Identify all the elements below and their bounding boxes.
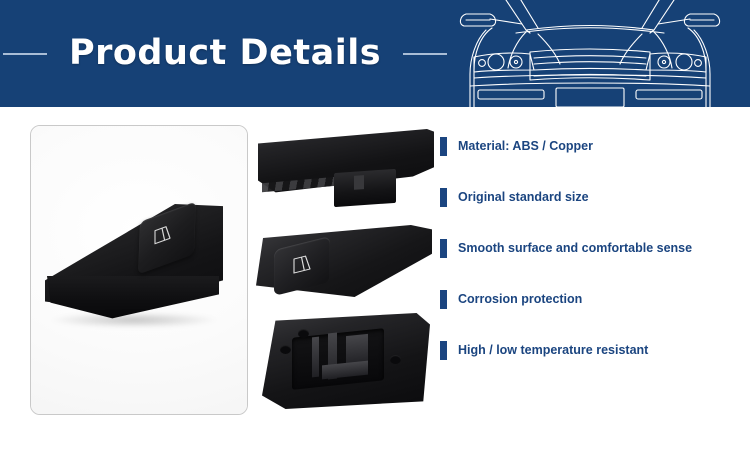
- feature-item: Material: ABS / Copper: [440, 135, 736, 157]
- feature-list: Material: ABS / Copper Original standard…: [440, 135, 736, 361]
- bullet-marker-icon: [440, 341, 447, 360]
- page-header: Product Details: [0, 0, 750, 107]
- thumb3-screw-hole: [280, 345, 291, 354]
- main-product-image-frame[interactable]: [30, 125, 248, 415]
- thumbnail-column: [256, 121, 436, 421]
- feature-label: Smooth surface and comfortable sense: [458, 242, 692, 255]
- bullet-marker-icon: [440, 188, 447, 207]
- main-product-image: [31, 126, 247, 414]
- switch-drop-shadow: [49, 312, 219, 328]
- bullet-marker-icon: [440, 239, 447, 258]
- feature-item: Original standard size: [440, 186, 736, 208]
- feature-label: Corrosion protection: [458, 293, 582, 306]
- bullet-marker-icon: [440, 137, 447, 156]
- thumbnail-connector-side-view[interactable]: [256, 121, 436, 213]
- switch-illustration: [31, 126, 247, 414]
- feature-item: High / low temperature resistant: [440, 339, 736, 361]
- thumb3-screw-hole: [298, 329, 309, 338]
- content-area: Material: ABS / Copper Original standard…: [0, 107, 750, 457]
- feature-item: Corrosion protection: [440, 288, 736, 310]
- page-title: Product Details: [69, 36, 381, 71]
- header-title-block: Product Details: [0, 0, 450, 107]
- thumbnail-socket-closeup[interactable]: [256, 307, 436, 413]
- feature-item: Smooth surface and comfortable sense: [440, 237, 736, 259]
- thumb3-screw-hole: [390, 355, 401, 364]
- bullet-marker-icon: [440, 290, 447, 309]
- thumb3-pin: [312, 337, 319, 378]
- feature-label: Material: ABS / Copper: [458, 140, 593, 153]
- thumb1-connector-plug: [334, 169, 396, 207]
- feature-label: High / low temperature resistant: [458, 344, 648, 357]
- thumbnail-rocker-closeup[interactable]: [256, 221, 436, 299]
- feature-label: Original standard size: [458, 191, 589, 204]
- title-dash-left-icon: [3, 53, 47, 55]
- car-front-line-art-icon: [430, 0, 750, 107]
